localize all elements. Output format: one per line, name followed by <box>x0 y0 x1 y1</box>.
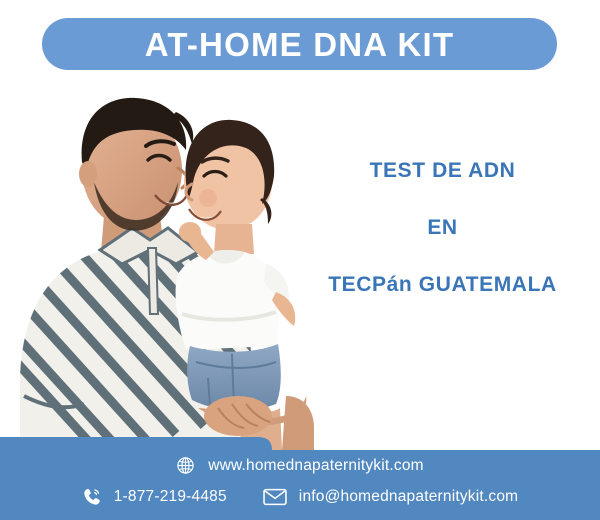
footer-email-item[interactable]: info@homednapaternitykit.com <box>263 488 519 506</box>
footer-website-label[interactable]: www.homednapaternitykit.com <box>208 458 424 474</box>
father-and-child-illustration <box>0 78 320 450</box>
footer-website-row: www.homednapaternitykit.com <box>0 456 600 475</box>
banner-title: AT-HOME DNA KIT <box>145 28 454 61</box>
footer-phone-item[interactable]: 1-877-219-4485 <box>82 487 227 507</box>
footer: www.homednapaternitykit.com 1-877-219-44… <box>0 437 600 520</box>
headline-line-1: TEST DE ADN <box>300 160 585 181</box>
globe-icon <box>176 456 195 475</box>
footer-email-label[interactable]: info@homednapaternitykit.com <box>299 489 519 505</box>
footer-contact-row: 1-877-219-4485 info@homednapaternitykit.… <box>0 487 600 507</box>
headline-line-3: TECPán GUATEMALA <box>300 274 585 295</box>
phone-ringing-icon <box>82 487 102 507</box>
footer-contact-spacer <box>227 497 263 498</box>
headline-line-2: EN <box>300 217 585 238</box>
dna-kit-promo-banner: AT-HOME DNA KIT <box>0 0 600 520</box>
headline-block: TEST DE ADN EN TECPán GUATEMALA <box>300 160 585 295</box>
footer-phone-label[interactable]: 1-877-219-4485 <box>114 489 227 505</box>
father-and-child-photo <box>0 78 320 450</box>
envelope-icon <box>263 488 287 506</box>
header-banner: AT-HOME DNA KIT <box>42 18 557 70</box>
